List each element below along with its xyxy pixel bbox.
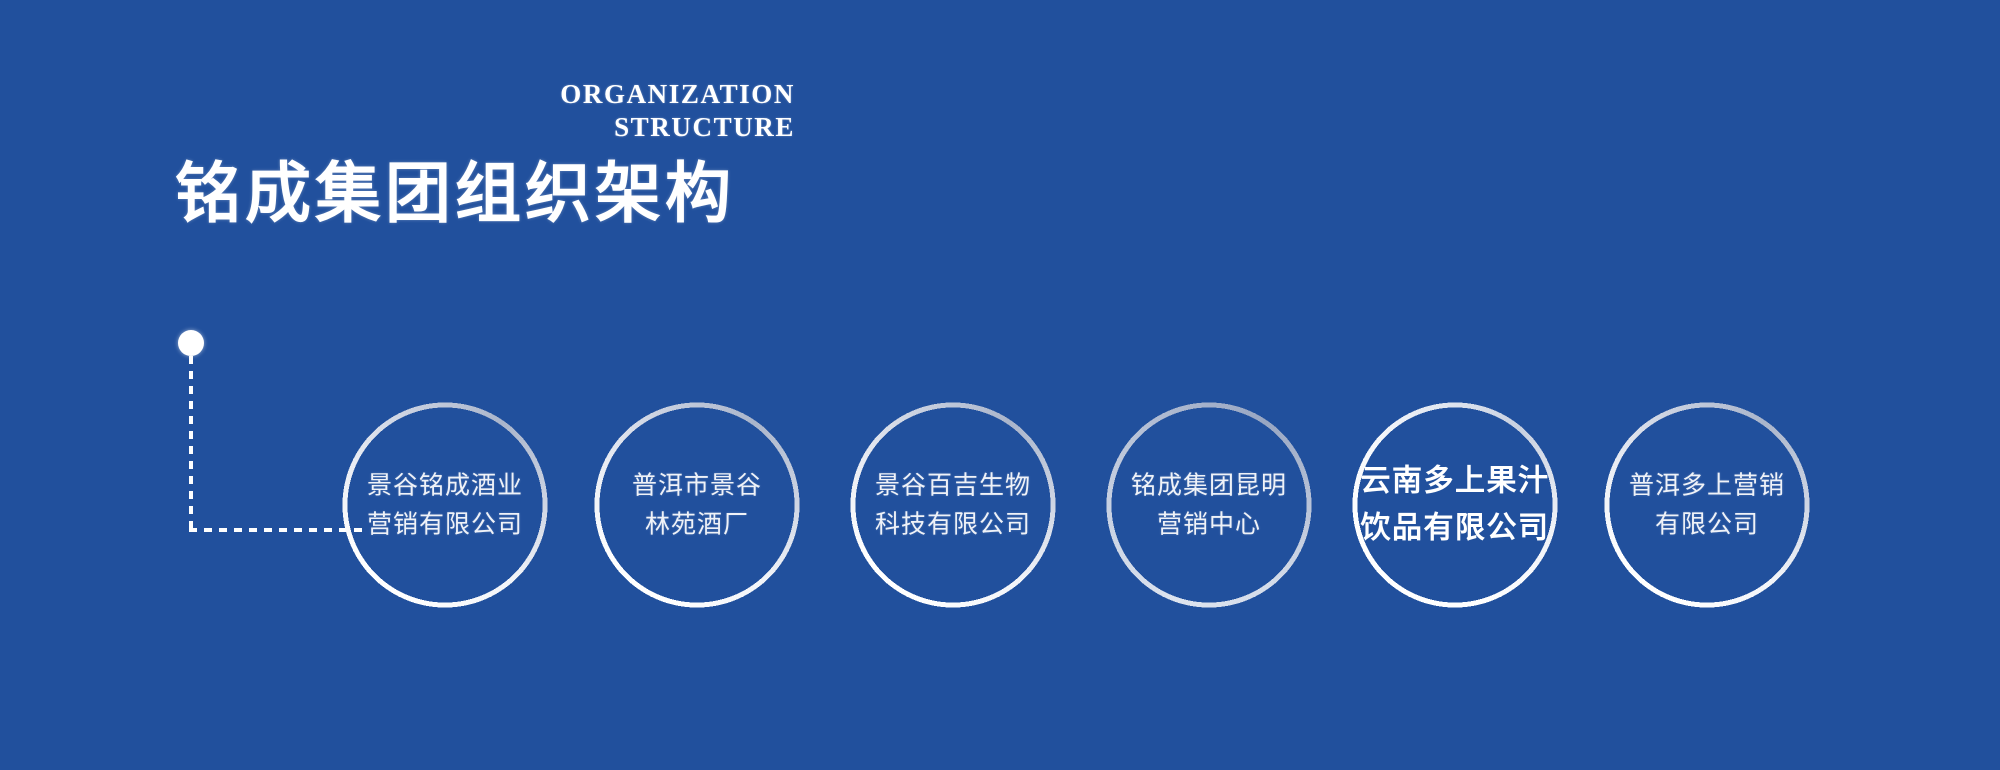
- org-node-5[interactable]: 云南多上果汁 饮品有限公司: [1310, 360, 1600, 650]
- org-node-6[interactable]: 普洱多上营销 有限公司: [1562, 360, 1852, 650]
- org-node-label: 普洱多上营销 有限公司: [1582, 466, 1832, 544]
- org-node-3[interactable]: 景谷百吉生物 科技有限公司: [808, 360, 1098, 650]
- org-node-label: 云南多上果汁 饮品有限公司: [1330, 459, 1580, 552]
- org-node-1[interactable]: 景谷铭成酒业 营销有限公司: [300, 360, 590, 650]
- org-node-label: 景谷百吉生物 科技有限公司: [828, 466, 1078, 544]
- org-node-2[interactable]: 普洱市景谷 林苑酒厂: [552, 360, 842, 650]
- org-circle-chain: 景谷铭成酒业 营销有限公司 普洱市景谷 林苑酒厂 景谷百吉生物 科技有限公司 铭…: [0, 0, 2000, 770]
- org-node-label: 景谷铭成酒业 营销有限公司: [320, 466, 570, 544]
- org-node-label: 铭成集团昆明 营销中心: [1084, 466, 1334, 544]
- org-node-label: 普洱市景谷 林苑酒厂: [572, 466, 822, 544]
